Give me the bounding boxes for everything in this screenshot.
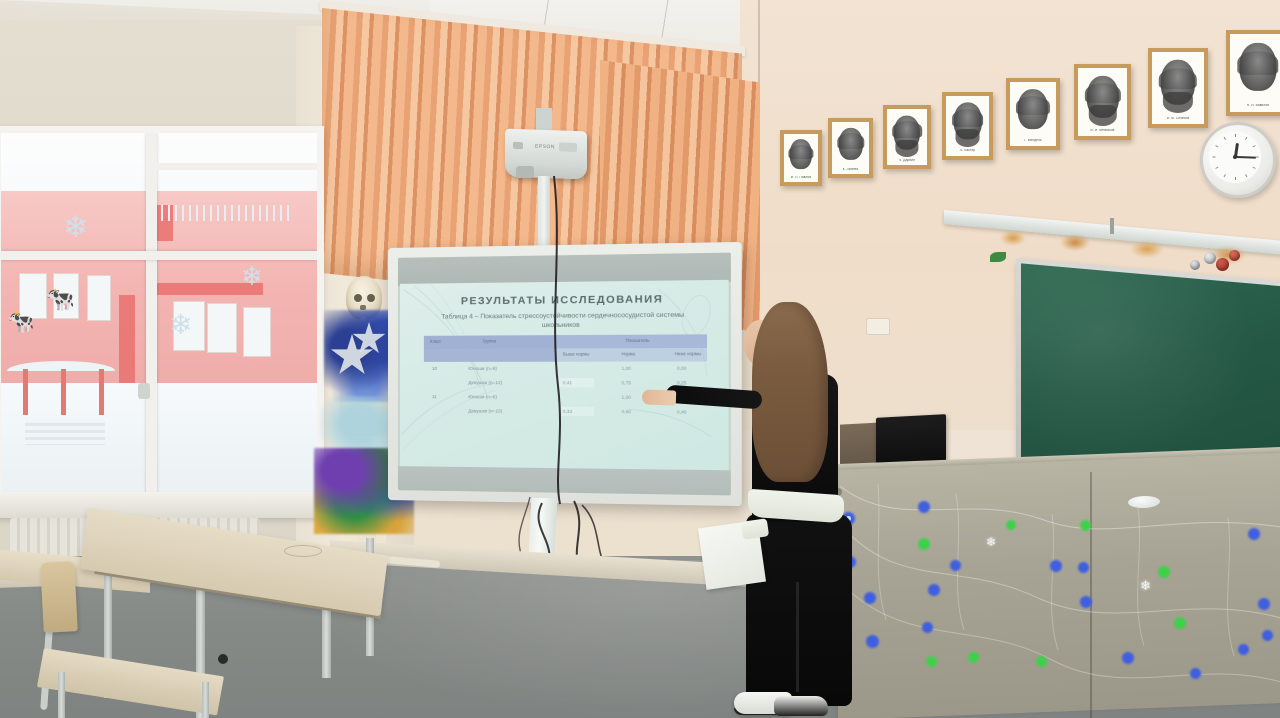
projector-brand-label: EPSON (535, 144, 555, 151)
projector-lens (516, 166, 534, 178)
ornament-red (1229, 250, 1240, 261)
portrait-frame-2: К. Линней (828, 118, 873, 178)
portrait-caption: И. И. Мечников (1082, 129, 1123, 133)
portrait-frame-5: Г. Мендель (1006, 78, 1060, 150)
portrait-frame-3: Ч. Дарвин (883, 105, 931, 169)
portrait-frame-8: Н. И. Вавилов (1226, 30, 1280, 116)
portrait-caption: Ч. Дарвин (890, 159, 924, 163)
portrait-beard (1088, 105, 1116, 125)
desk-engraving (284, 545, 322, 557)
led-light-blue (1248, 528, 1260, 540)
building-window (207, 303, 237, 353)
sneaker-right (774, 696, 828, 716)
monitor[interactable] (876, 414, 946, 466)
snowflake-decal: ❄ (241, 263, 263, 289)
projector-vent (513, 142, 523, 149)
garland-leaf (990, 252, 1006, 262)
clock-minute-hand (1235, 156, 1255, 159)
portrait-caption: Н. И. Вавилов (1234, 104, 1280, 108)
table-cell-below: 0,40 (677, 409, 687, 414)
rail-hook (1110, 218, 1114, 234)
projector-vent (559, 142, 577, 152)
chair-foot (218, 654, 228, 664)
led-light-blue (1078, 562, 1089, 573)
garland-tuft (1130, 240, 1164, 258)
led-light-green (1080, 520, 1091, 531)
table-cell-norm: 0,60 (622, 409, 631, 414)
ornament-silver (1204, 252, 1216, 264)
chair-leg (202, 682, 209, 718)
portrait-face (1240, 43, 1277, 91)
building-accent-column (119, 295, 135, 391)
jacket-cuff (741, 518, 769, 539)
window-handle[interactable] (138, 383, 150, 399)
courtyard-steps (25, 419, 105, 445)
portrait-frame-4: Л. Пастер (942, 92, 993, 160)
table-cell-norm: 1,00 (622, 395, 631, 400)
led-light-green (1158, 566, 1170, 578)
student-presenter (690, 302, 870, 718)
table-col-header-group-right: Показатель (626, 338, 650, 343)
led-light-blue (1238, 644, 1249, 655)
portrait-face (838, 128, 862, 160)
window-mullion-vertical (146, 133, 157, 505)
ornament-red (1216, 258, 1229, 271)
window-mullion-horizontal (1, 251, 317, 260)
table-row: 10 (432, 366, 437, 371)
portrait-frame-6: И. И. Мечников (1074, 64, 1131, 140)
led-light-blue (1262, 630, 1273, 641)
portrait-beard (955, 129, 980, 147)
chair-leg (58, 672, 65, 718)
reindeer-decal: 🐄 (45, 285, 75, 314)
snowflake-decoration: ❄ (1140, 578, 1151, 594)
snowflake-decal: ❄ (63, 213, 88, 243)
table-cell-norm: 0,75 (622, 380, 631, 385)
windowsill (0, 492, 320, 518)
portrait-face (1018, 89, 1048, 129)
table-row: Юноши (n=9) (468, 366, 497, 371)
garland-tuft (1060, 234, 1090, 251)
led-light-blue (950, 560, 961, 571)
led-light-green (918, 538, 930, 550)
garland-tuft (1000, 230, 1026, 246)
presenter-hair (752, 302, 828, 482)
trouser-seam (796, 582, 799, 692)
canopy-post (99, 369, 104, 415)
table-row: Юноши (n=6) (468, 394, 497, 399)
building-roof-railing (161, 205, 291, 221)
table-col-header-norm: Норма (622, 351, 636, 356)
table-row: Девушки (n=10) (468, 408, 502, 413)
led-light-blue (918, 501, 930, 513)
table-col-header-group: Группа (483, 338, 497, 343)
classroom-photo: ❄ ❄ ❄ 🐄 🐄 И. П. Павлов К. Линней Ч. Дарв… (0, 0, 1280, 718)
led-light-blue (1122, 652, 1134, 664)
snowflake-decal: ❄ (169, 311, 192, 339)
led-light-green (926, 656, 937, 667)
portrait-caption: К. Линней (835, 168, 866, 172)
table-col-header-grade: Класс (430, 339, 441, 344)
presenter-hand-pointing (642, 389, 677, 405)
wall-clock (1200, 122, 1276, 198)
led-light-blue (1258, 598, 1270, 610)
window-mullion-transom (146, 163, 317, 170)
led-light-blue (1080, 596, 1092, 608)
portrait-beard (895, 140, 918, 157)
led-light-green (1174, 617, 1186, 629)
table-row: Девушки (n=12) (468, 380, 502, 385)
led-light-blue (1190, 668, 1201, 679)
clock-face (1209, 131, 1261, 183)
portrait-frame-1: И. П. Павлов (780, 130, 822, 186)
projector-cable (540, 176, 580, 506)
led-string-wires (838, 470, 1280, 718)
portrait-caption: И. П. Павлов (787, 176, 816, 180)
portrait-caption: Г. Мендель (1014, 139, 1053, 143)
led-light-blue (922, 622, 933, 633)
led-light-blue (928, 584, 940, 596)
led-light-green (1036, 656, 1047, 667)
canopy-post (61, 369, 66, 415)
snowflake-decoration: ❄ (986, 535, 996, 549)
portrait-caption: Л. Пастер (949, 149, 985, 153)
building-window (87, 275, 111, 321)
building-window (243, 307, 271, 357)
canopy-post (23, 369, 28, 415)
chair-backrest[interactable] (40, 561, 78, 633)
portrait-beard (1163, 92, 1193, 114)
portrait-frame-7: И. М. Сеченов (1148, 48, 1208, 128)
window: ❄ ❄ ❄ 🐄 🐄 (0, 126, 324, 512)
table-cell-below: 0,00 (677, 366, 687, 371)
portrait-face (790, 139, 812, 169)
portrait-caption: И. М. Сеченов (1156, 117, 1200, 121)
ornament-silver (1190, 260, 1200, 270)
led-light-blue (1050, 560, 1062, 572)
led-light-green (968, 652, 979, 663)
table-cell-norm: 1,00 (622, 366, 631, 371)
table-row: 11 (432, 394, 437, 399)
presenter-trousers (746, 514, 852, 706)
clock-center-pin (1233, 155, 1237, 159)
led-light-green (1006, 520, 1016, 530)
reindeer-decal: 🐄 (7, 309, 34, 335)
